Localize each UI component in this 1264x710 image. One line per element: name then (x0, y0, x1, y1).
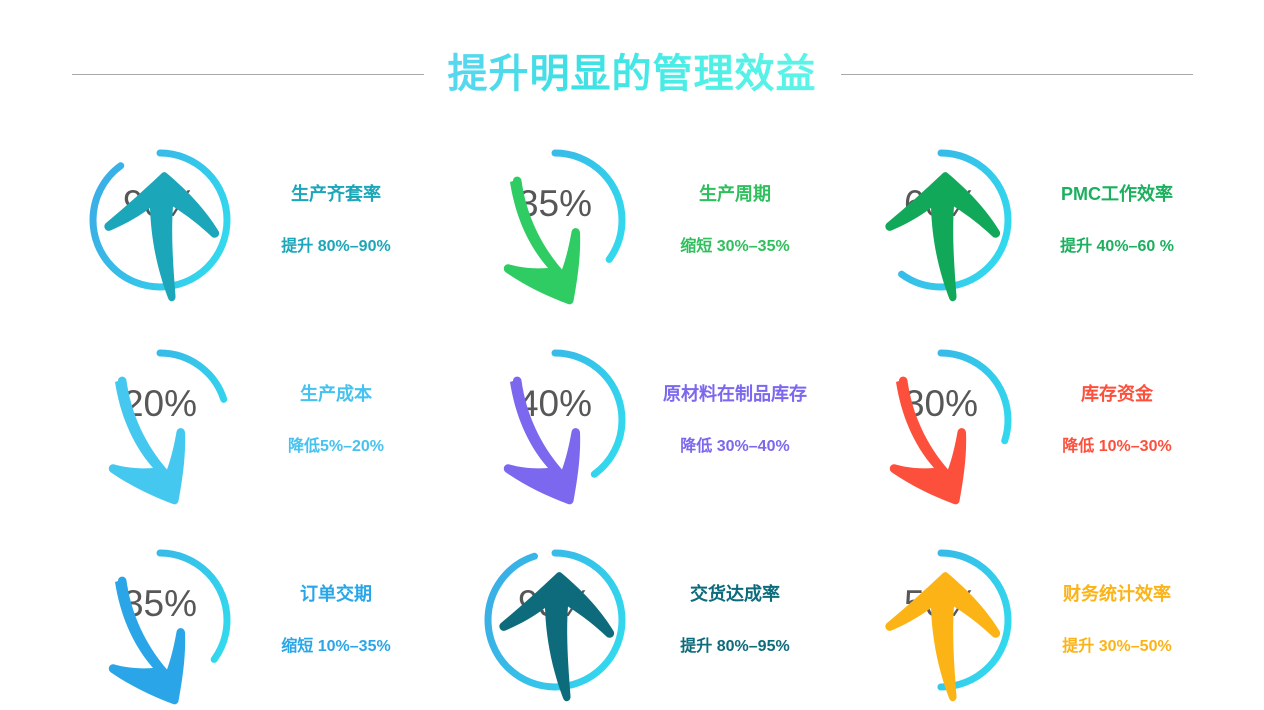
metric-card-pmc-work-efficiency: 60% PMC工作效率提升 40%–60 % (783, 120, 1264, 320)
page-header: 提升明显的管理效益 (0, 38, 1264, 110)
metric-sub: 缩短 30%–35% (680, 237, 789, 256)
metric-label: PMC工作效率 (1061, 184, 1173, 206)
metric-info: 库存资金降低 10%–30% (1042, 384, 1192, 456)
metric-sub: 提升 30%–50% (1062, 637, 1171, 656)
page-title: 提升明显的管理效益 (448, 52, 817, 96)
metric-info: 财务统计效率提升 30%–50% (1042, 584, 1192, 656)
metric-card-order-lead-time: 35% 订单交期缩短 10%–35% (0, 520, 395, 710)
gauge-production-cycle: 35% (480, 145, 630, 295)
metric-card-production-cost: 20% 生产成本降低5%–20% (0, 320, 395, 520)
metric-card-delivery-achievement-rate: 95% 交货达成率提升 80%–95% (395, 520, 783, 710)
header-rule-left (72, 74, 424, 75)
metric-sub: 提升 40%–60 % (1060, 237, 1174, 256)
metric-label: 生产周期 (699, 184, 771, 206)
metric-info: 生产齐套率提升 80%–90% (261, 184, 411, 256)
progress-ring (85, 345, 235, 495)
metric-label: 生产成本 (300, 384, 372, 406)
metric-sub: 提升 80%–95% (680, 637, 789, 656)
metric-card-production-kitting-rate: 90% 生产齐套率提升 80%–90% (0, 120, 395, 320)
progress-ring-arc (488, 353, 622, 487)
progress-ring (480, 345, 630, 495)
gauge-production-cost: 20% (85, 345, 235, 495)
metric-info: 订单交期缩短 10%–35% (261, 584, 411, 656)
header-rule-right (841, 74, 1193, 75)
gauge-production-kitting-rate: 90% (85, 145, 235, 295)
metric-info: 生产成本降低5%–20% (261, 384, 411, 456)
metric-card-raw-material-wip-inventory: 40% 原材料在制品库存降低 30%–40% (395, 320, 783, 520)
progress-ring (85, 545, 235, 695)
gauge-raw-material-wip-inventory: 40% (480, 345, 630, 495)
metric-sub: 降低 30%–40% (680, 437, 789, 456)
metric-label: 库存资金 (1081, 384, 1153, 406)
metric-card-production-cycle: 35% 生产周期缩短 30%–35% (395, 120, 783, 320)
progress-ring (480, 545, 630, 695)
metric-sub: 降低 10%–30% (1062, 437, 1171, 456)
gauge-order-lead-time: 35% (85, 545, 235, 695)
progress-ring (480, 145, 630, 295)
metric-card-finance-statistics-efficiency: 50% 财务统计效率提升 30%–50% (783, 520, 1264, 710)
progress-ring (85, 145, 235, 295)
progress-ring (866, 545, 1016, 695)
gauge-delivery-achievement-rate: 95% (480, 545, 630, 695)
progress-ring-arc (488, 553, 622, 687)
progress-ring-arc (874, 353, 1008, 487)
progress-ring (866, 145, 1016, 295)
progress-ring (866, 345, 1016, 495)
progress-ring-arc (874, 553, 1008, 687)
progress-ring-arc (488, 153, 622, 287)
metric-sub: 提升 80%–90% (281, 237, 390, 256)
progress-ring-arc (93, 553, 227, 687)
infographic-page: 提升明显的管理效益 90% 生产齐套率提升 80%–90% 35% 生产周期缩短… (0, 0, 1264, 710)
metric-label: 订单交期 (300, 584, 372, 606)
metric-sub: 降低5%–20% (288, 437, 384, 456)
gauge-inventory-capital: 30% (866, 345, 1016, 495)
metric-sub: 缩短 10%–35% (281, 637, 390, 656)
metric-card-inventory-capital: 30% 库存资金降低 10%–30% (783, 320, 1264, 520)
progress-ring-arc (874, 153, 1008, 287)
progress-ring-arc (93, 353, 227, 487)
metric-label: 财务统计效率 (1063, 584, 1171, 606)
gauge-finance-statistics-efficiency: 50% (866, 545, 1016, 695)
progress-ring-arc (93, 153, 227, 287)
metric-label: 生产齐套率 (291, 184, 381, 206)
metric-info: PMC工作效率提升 40%–60 % (1042, 184, 1192, 256)
gauge-pmc-work-efficiency: 60% (866, 145, 1016, 295)
metric-label: 交货达成率 (690, 584, 780, 606)
metrics-grid: 90% 生产齐套率提升 80%–90% 35% 生产周期缩短 30%–35% 6… (0, 120, 1264, 710)
